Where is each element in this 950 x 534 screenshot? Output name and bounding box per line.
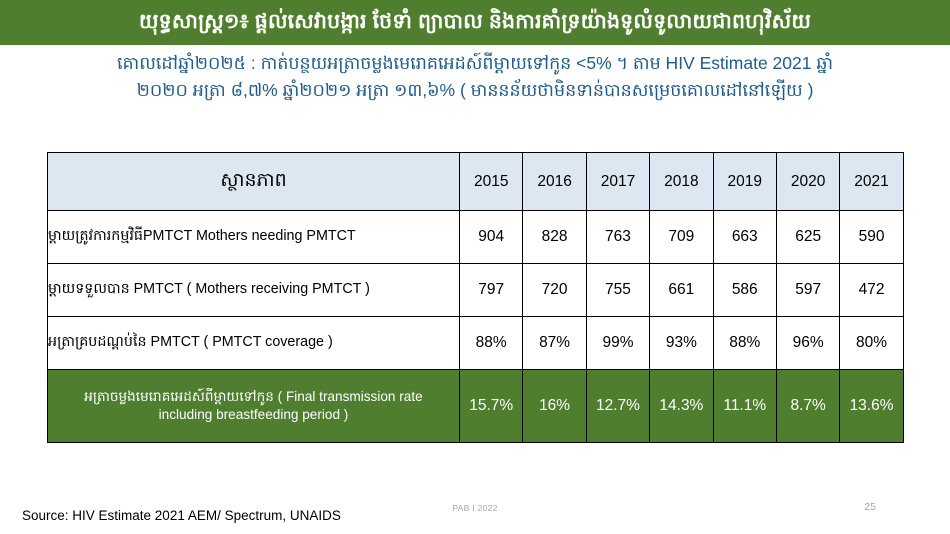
cell-r0-c5: 625 [776, 211, 839, 264]
cell-r1-c3: 661 [650, 264, 713, 317]
cell-r2-c2: 99% [586, 317, 649, 370]
table-row: ម្ដាយទទួលបាន PMTCT ( Mothers receiving P… [48, 264, 904, 317]
cell-r2-c5: 96% [776, 317, 839, 370]
row-label-mothers-receiving-pmtct: ម្ដាយទទួលបាន PMTCT ( Mothers receiving P… [48, 264, 460, 317]
cell-r2-c1: 87% [523, 317, 586, 370]
cell-r0-c0: 904 [460, 211, 523, 264]
cell-r2-c6: 80% [840, 317, 903, 370]
cell-r2-c0: 88% [460, 317, 523, 370]
subtitle-line-2: ២០២០ អត្រា ៨,៧% ឆ្នាំ២០២១ អត្រា ១៣,៦% ( … [22, 77, 928, 104]
subtitle-line-1: គោលដៅឆ្នាំ២០២៥ : កាត់បន្ថយអត្រាចម្លងមេរោ… [22, 50, 928, 77]
cell-r0-c2: 763 [586, 211, 649, 264]
cell-r3-c4: 11.1% [713, 370, 776, 443]
table-body: ម្ដាយត្រូវការកម្មវិធីPMTCT Mothers needi… [48, 211, 904, 443]
cell-r1-c0: 797 [460, 264, 523, 317]
cell-r2-c4: 88% [713, 317, 776, 370]
table-header: ស្ថានភាព 2015 2016 2017 2018 2019 2020 2… [48, 153, 904, 211]
column-header-2020: 2020 [776, 153, 839, 211]
column-header-2017: 2017 [586, 153, 649, 211]
row-label-pmtct-coverage: អត្រាគ្របដណ្ដប់នៃ PMTCT ( PMTCT coverage… [48, 317, 460, 370]
cell-r1-c4: 586 [713, 264, 776, 317]
table-row-highlighted: អត្រាចម្លងមេរោគអេដស៍ពីម្ដាយទៅកូន ( Final… [48, 370, 904, 443]
cell-r0-c1: 828 [523, 211, 586, 264]
footer-center-note: PAB I 2022 [0, 503, 950, 513]
cell-r3-c5: 8.7% [776, 370, 839, 443]
cell-r0-c4: 663 [713, 211, 776, 264]
column-header-2019: 2019 [713, 153, 776, 211]
table-row: អត្រាគ្របដណ្ដប់នៃ PMTCT ( PMTCT coverage… [48, 317, 904, 370]
cell-r3-c1: 16% [523, 370, 586, 443]
column-header-2018: 2018 [650, 153, 713, 211]
slide-title-bar: យុទ្ធសាស្ត្រ១៖ ផ្ដល់សេវាបង្ការ ថែទាំ ព្យ… [0, 0, 950, 45]
cell-r3-c0: 15.7% [460, 370, 523, 443]
cell-r1-c2: 755 [586, 264, 649, 317]
cell-r2-c3: 93% [650, 317, 713, 370]
table-header-row: ស្ថានភាព 2015 2016 2017 2018 2019 2020 2… [48, 153, 904, 211]
cell-r3-c2: 12.7% [586, 370, 649, 443]
cell-r3-c6: 13.6% [840, 370, 903, 443]
cell-r0-c3: 709 [650, 211, 713, 264]
column-header-2016: 2016 [523, 153, 586, 211]
cell-r0-c6: 590 [840, 211, 903, 264]
column-header-2015: 2015 [460, 153, 523, 211]
column-header-situation: ស្ថានភាព [48, 153, 460, 211]
cell-r1-c1: 720 [523, 264, 586, 317]
row-label-mothers-needing-pmtct: ម្ដាយត្រូវការកម្មវិធីPMTCT Mothers needi… [48, 211, 460, 264]
page-number: 25 [864, 501, 876, 513]
cell-r3-c3: 14.3% [650, 370, 713, 443]
cell-r1-c5: 597 [776, 264, 839, 317]
row-label-final-transmission-rate: អត្រាចម្លងមេរោគអេដស៍ពីម្ដាយទៅកូន ( Final… [48, 370, 460, 443]
pmtct-table-container: ស្ថានភាព 2015 2016 2017 2018 2019 2020 2… [47, 152, 903, 443]
cell-r1-c6: 472 [840, 264, 903, 317]
pmtct-data-table: ស្ថានភាព 2015 2016 2017 2018 2019 2020 2… [47, 152, 904, 443]
column-header-2021: 2021 [840, 153, 903, 211]
page-title: យុទ្ធសាស្ត្រ១៖ ផ្ដល់សេវាបង្ការ ថែទាំ ព្យ… [139, 11, 811, 34]
table-row: ម្ដាយត្រូវការកម្មវិធីPMTCT Mothers needi… [48, 211, 904, 264]
slide-subtitle: គោលដៅឆ្នាំ២០២៥ : កាត់បន្ថយអត្រាចម្លងមេរោ… [22, 50, 928, 104]
